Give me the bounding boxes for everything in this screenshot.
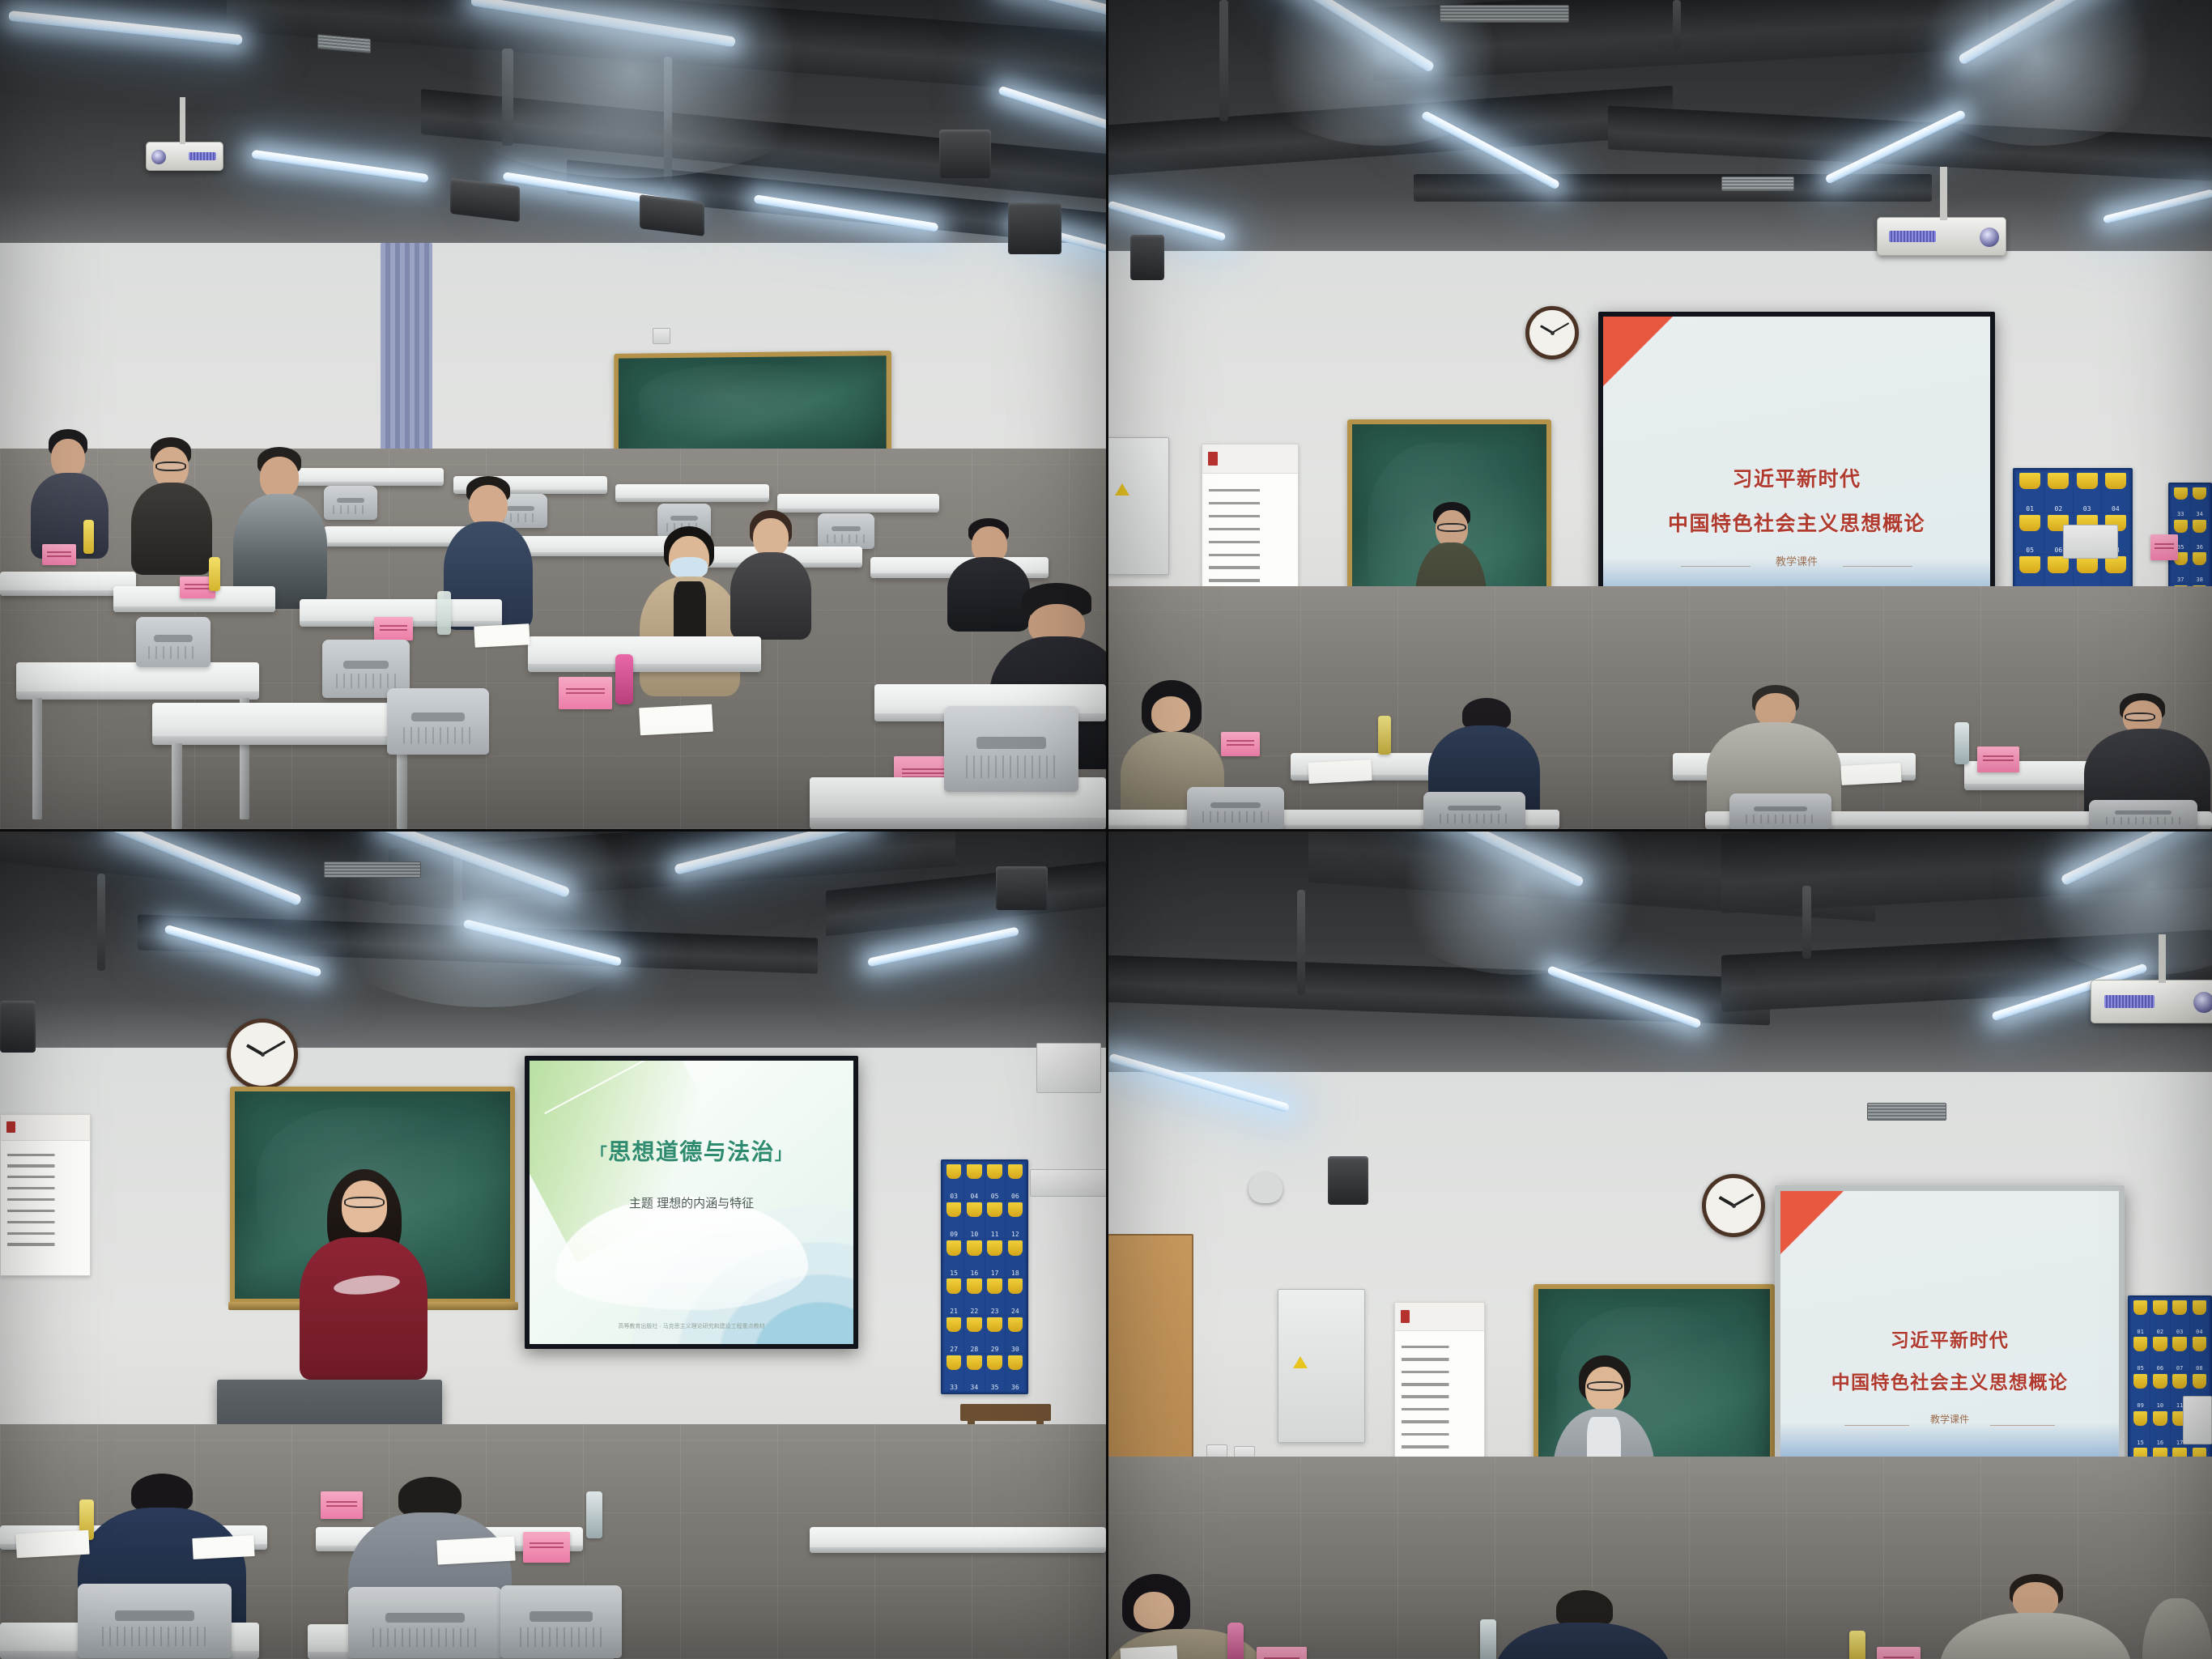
- ceiling-pipe: [502, 49, 513, 146]
- desk: [528, 636, 761, 672]
- evaluation-sheet: [1840, 763, 1901, 785]
- projector-mount: [1940, 167, 1947, 220]
- chair: [944, 706, 1078, 792]
- name-tent-card: [523, 1532, 570, 1563]
- wall-clock: [1525, 306, 1579, 359]
- panel-top-left: [0, 0, 1106, 829]
- presenter: [300, 1169, 429, 1380]
- glasses: [1437, 523, 1466, 532]
- name-tent-card: [559, 677, 612, 709]
- key-slot[interactable]: 06: [2150, 1336, 2169, 1372]
- evaluation-sheet: [639, 704, 713, 736]
- key-slot[interactable]: 33: [2172, 486, 2190, 517]
- head: [1134, 1592, 1174, 1629]
- ceiling-pipe: [97, 874, 105, 971]
- projector-lens: [2193, 992, 2212, 1013]
- key-slot[interactable]: 36: [2191, 518, 2210, 550]
- ceiling-projector: [146, 142, 223, 171]
- key-slot[interactable]: 23: [985, 1278, 1005, 1315]
- chair: [1423, 792, 1525, 829]
- ceiling-pipe: [664, 57, 672, 194]
- key-slot[interactable]: 34: [2191, 486, 2210, 517]
- evaluation-sheet: [474, 623, 530, 648]
- key-slot[interactable]: 16: [964, 1239, 984, 1276]
- wall-speaker: [996, 866, 1048, 910]
- ceiling-duct: [1414, 174, 1932, 202]
- chair: [1729, 793, 1831, 829]
- notice-poster: [0, 1114, 91, 1276]
- hair: [131, 1474, 193, 1512]
- torso: [730, 552, 811, 640]
- warning-icon: [1293, 1356, 1308, 1368]
- glasses: [1587, 1381, 1623, 1391]
- chair: [136, 617, 211, 667]
- key-slot[interactable]: 28: [964, 1316, 984, 1353]
- face-mask: [670, 557, 708, 578]
- key-slot[interactable]: 04: [2190, 1299, 2209, 1335]
- water-bottle: [209, 557, 220, 591]
- key-slot[interactable]: 34: [964, 1354, 984, 1391]
- window-curtain: [381, 243, 432, 470]
- ceiling-pipe: [1219, 0, 1228, 121]
- torso: [1495, 1623, 1671, 1659]
- slide-subtitle: 主题 理想的内涵与特征: [530, 1194, 853, 1211]
- key-slot[interactable]: 10: [2150, 1372, 2169, 1409]
- key-slot[interactable]: 06: [1006, 1163, 1025, 1200]
- wall-speaker: [1130, 235, 1164, 280]
- key-slot[interactable]: 17: [985, 1239, 1005, 1276]
- water-bottle: [1480, 1619, 1496, 1659]
- projector-grill: [189, 152, 216, 160]
- ceiling-vent: [1440, 5, 1569, 23]
- ceiling-projector: [2091, 980, 2212, 1023]
- desk-leg: [32, 698, 42, 819]
- key-slot[interactable]: 03: [2074, 471, 2101, 513]
- key-slot[interactable]: 09: [944, 1201, 963, 1238]
- quote-open: 「: [591, 1146, 608, 1163]
- name-tent-card: [321, 1491, 363, 1519]
- attendee: [1940, 1574, 2133, 1659]
- key-slot[interactable]: 04: [964, 1163, 984, 1200]
- water-bottle: [586, 1491, 602, 1538]
- key-slot[interactable]: 04: [2102, 471, 2129, 513]
- key-slot[interactable]: 30: [1006, 1316, 1025, 1353]
- electrical-cabinet: [1278, 1289, 1365, 1443]
- name-tent-card: [1877, 1647, 1921, 1659]
- water-bottle: [1955, 722, 1969, 764]
- electrical-cabinet: [1106, 437, 1169, 575]
- attendee: [1106, 1574, 1268, 1659]
- key-slot[interactable]: 03: [2171, 1299, 2189, 1335]
- clock-center: [1732, 1204, 1736, 1208]
- water-bottle: [437, 591, 451, 635]
- desk-leg: [397, 743, 407, 829]
- projector-mount: [180, 97, 185, 144]
- poster-header: [1202, 445, 1298, 474]
- water-bottle: [83, 520, 94, 554]
- desk: [16, 662, 259, 700]
- head: [1151, 696, 1190, 732]
- panel-divider-horizontal: [0, 829, 2212, 832]
- slide-accent-triangle: [1603, 317, 1673, 386]
- evaluation-sheet: [1120, 1645, 1177, 1659]
- glasses: [2125, 713, 2155, 721]
- attendee: [729, 510, 813, 640]
- key-board: 0304 0506 0910 1112 1516 1718 2122 2324 …: [941, 1159, 1028, 1394]
- key-slot[interactable]: 02: [2044, 471, 2072, 513]
- dome-camera: [1249, 1172, 1283, 1203]
- clock-center: [261, 1053, 265, 1057]
- wall-speaker: [939, 130, 991, 178]
- key-slot[interactable]: 12: [1006, 1201, 1025, 1238]
- chalkboard: [614, 351, 891, 459]
- panel-top-right: 习近平新时代 中国特色社会主义思想概论 教学课件 高等教育出版社 · 人民出版社…: [1106, 0, 2212, 829]
- wall-clock: [227, 1019, 298, 1090]
- wall-speaker: [1008, 202, 1061, 254]
- slide-title: 「思想道德与法治」: [530, 1134, 853, 1167]
- chair: [348, 1587, 502, 1658]
- attendee: [233, 447, 329, 609]
- slide-title-line2: 中国特色社会主义思想概论: [1603, 508, 1990, 537]
- slide-title-text: 思想道德与法治: [608, 1139, 775, 1164]
- water-bottle: [615, 654, 633, 704]
- key-slot[interactable]: 05: [985, 1163, 1005, 1200]
- ceiling-vent: [1721, 177, 1794, 191]
- torso: [1940, 1613, 2131, 1659]
- warning-icon: [1115, 483, 1129, 496]
- water-bottle: [1849, 1631, 1865, 1659]
- ceiling-vent: [1867, 1103, 1946, 1121]
- desk: [810, 1527, 1106, 1553]
- name-tent-card: [1977, 747, 2019, 772]
- wall-equipment-box: [2063, 525, 2118, 559]
- key-slot[interactable]: 15: [944, 1239, 963, 1276]
- key-slot[interactable]: 09: [2131, 1372, 2150, 1409]
- slide-title-line1: 习近平新时代: [1603, 463, 1990, 492]
- chair: [1187, 787, 1284, 829]
- chair: [78, 1584, 232, 1658]
- key-slot[interactable]: 10: [964, 1201, 984, 1238]
- projector-lens: [151, 150, 166, 164]
- torso: [300, 1237, 428, 1380]
- torso: [131, 483, 212, 575]
- panel-bottom-left: 「思想道德与法治」 主题 理想的内涵与特征 高等教育出版社 · 马克思主义理论研…: [0, 829, 1106, 1659]
- wall-speaker: [1328, 1156, 1368, 1205]
- key-slot[interactable]: 16: [2150, 1410, 2169, 1446]
- slide-title-line2: 中国特色社会主义思想概论: [1780, 1367, 2119, 1394]
- glasses: [155, 462, 186, 471]
- water-bottle: [1227, 1623, 1244, 1659]
- desk: [615, 484, 769, 502]
- ceiling-vent: [324, 861, 421, 878]
- projector-lens: [1980, 228, 1999, 247]
- attendee: [1495, 1590, 1673, 1659]
- key-slot[interactable]: 21: [944, 1278, 963, 1315]
- clock-minute-hand: [262, 1040, 285, 1055]
- wall-panel: [653, 328, 670, 344]
- ceiling-pipe: [1673, 0, 1681, 49]
- poster-header: [1395, 1303, 1484, 1331]
- head: [51, 439, 85, 478]
- projection-screen-frame: 「思想道德与法治」 主题 理想的内涵与特征 高等教育出版社 · 马克思主义理论研…: [525, 1056, 858, 1349]
- ceiling-pipe: [1297, 890, 1305, 995]
- key-slot[interactable]: 27: [944, 1316, 963, 1353]
- wall-equipment-box: [2183, 1396, 2212, 1444]
- water-bottle: [1378, 716, 1391, 755]
- evaluation-sheet: [436, 1537, 515, 1565]
- slide-accent-triangle: [1780, 1191, 1844, 1254]
- quote-close: 」: [775, 1146, 792, 1163]
- name-tent-card: [374, 617, 413, 640]
- wall-speaker: [0, 1001, 36, 1053]
- projector-grill: [2104, 995, 2155, 1008]
- chair: [500, 1585, 622, 1658]
- ceiling-pipe: [1802, 886, 1811, 959]
- chair: [387, 688, 489, 755]
- projector-grill: [1889, 231, 1936, 242]
- key-slot[interactable]: 03: [944, 1163, 963, 1200]
- name-tent-card: [2150, 534, 2178, 560]
- projection-screen: 「思想道德与法治」 主题 理想的内涵与特征 高等教育出版社 · 马克思主义理论研…: [530, 1061, 853, 1344]
- key-slot[interactable]: 01: [2016, 471, 2044, 513]
- evaluation-sheet: [192, 1535, 254, 1559]
- evaluation-sheet: [1308, 759, 1372, 784]
- name-tent-card: [1221, 732, 1260, 756]
- glasses: [344, 1197, 385, 1208]
- clock-minute-hand: [1552, 322, 1570, 334]
- key-slot[interactable]: 29: [985, 1316, 1005, 1353]
- name-tent-card: [1257, 1647, 1307, 1659]
- hair: [398, 1477, 462, 1517]
- key-slot[interactable]: 38: [2191, 551, 2210, 583]
- key-slot[interactable]: 15: [2131, 1410, 2150, 1446]
- notice-poster: [1394, 1302, 1485, 1482]
- ceiling-projector: [1877, 217, 2006, 256]
- attendee: [29, 429, 110, 559]
- key-slot[interactable]: 33: [944, 1354, 963, 1391]
- wall-equipment-box: [1030, 1169, 1106, 1197]
- wall-equipment-box: [1036, 1043, 1101, 1093]
- name-tent-card: [42, 544, 76, 565]
- key-slot[interactable]: 02: [2150, 1299, 2169, 1335]
- wall-clock: [1702, 1174, 1765, 1237]
- poster-header: [1, 1115, 90, 1141]
- projector-mount: [2159, 934, 2166, 983]
- chair: [2089, 800, 2197, 829]
- attendee: [2142, 1582, 2212, 1659]
- clock-center: [1551, 331, 1555, 335]
- key-slot[interactable]: 24: [1006, 1278, 1025, 1315]
- key-slot[interactable]: 11: [985, 1201, 1005, 1238]
- key-slot[interactable]: 05: [2016, 513, 2044, 555]
- key-slot[interactable]: 35: [985, 1354, 1005, 1391]
- key-slot[interactable]: 36: [1006, 1354, 1025, 1391]
- attendee: [130, 437, 214, 575]
- torso: [2142, 1598, 2212, 1659]
- evaluation-sheet: [15, 1530, 89, 1559]
- chair: [324, 486, 377, 520]
- key-slot[interactable]: 07: [2171, 1336, 2189, 1372]
- ceiling-pipe: [453, 853, 462, 923]
- desk-leg: [172, 743, 182, 829]
- chair: [818, 513, 874, 549]
- slide-footer: 高等教育出版社 · 马克思主义理论研究和建设工程重点教材: [530, 1322, 853, 1330]
- slide-title-line1: 习近平新时代: [1780, 1325, 2119, 1352]
- key-slot[interactable]: 18: [1006, 1239, 1025, 1276]
- key-slot[interactable]: 01: [2131, 1299, 2150, 1335]
- head: [260, 457, 299, 499]
- photo-collage: 习近平新时代 中国特色社会主义思想概论 教学课件 高等教育出版社 · 人民出版社…: [0, 0, 2212, 1659]
- clock-minute-hand: [1733, 1193, 1753, 1206]
- key-slot[interactable]: 22: [964, 1278, 984, 1315]
- desk: [152, 703, 419, 745]
- panel-bottom-right: 习近平新时代 中国特色社会主义思想概论 教学课件 高等教育出版社 · 人民出版社…: [1106, 829, 2212, 1659]
- head: [753, 518, 789, 557]
- key-slot[interactable]: 08: [2190, 1336, 2209, 1372]
- key-slot[interactable]: 05: [2131, 1336, 2150, 1372]
- slide-moral-law: 「思想道德与法治」 主题 理想的内涵与特征 高等教育出版社 · 马克思主义理论研…: [530, 1061, 853, 1344]
